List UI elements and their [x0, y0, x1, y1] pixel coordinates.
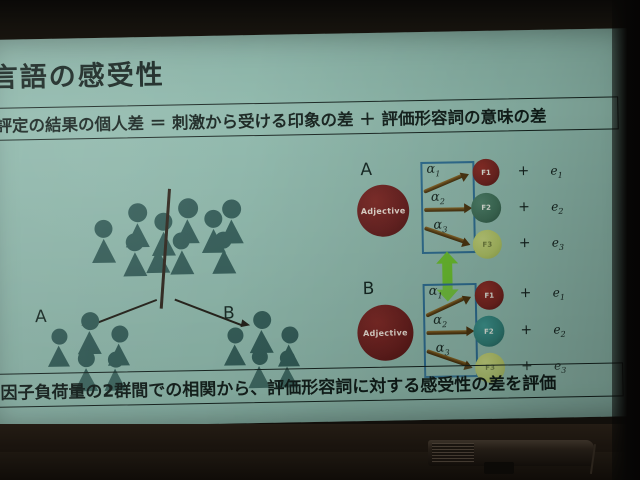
loading-label-b-3: α3: [436, 341, 450, 358]
loading-label-b-1: α1: [429, 284, 443, 301]
person-head: [253, 311, 271, 329]
model-group-label-a: A: [360, 160, 372, 180]
loading-arrow-b-2: [426, 330, 470, 335]
error-label-a-1: e1: [550, 163, 563, 180]
error-sub: 1: [560, 293, 565, 302]
statement-box-top: 評定の結果の個人差 ＝ 刺激から受ける印象の差 ＋ 評価形容詞の意味の差: [0, 96, 619, 141]
factor-node-b-1: F1: [474, 281, 504, 311]
loading-sub: 2: [442, 320, 447, 329]
projector-lens: [484, 462, 514, 474]
factor-node-a-3: F3: [473, 230, 503, 260]
person-head: [81, 312, 99, 330]
loading-symbol: α: [429, 284, 438, 299]
subgroup-label-b: B: [223, 303, 235, 323]
projected-slide: 言語の感受性 評定の結果の個人差 ＝ 刺激から受ける印象の差 ＋ 評価形容詞の意…: [0, 28, 639, 428]
person-head: [281, 326, 298, 343]
loading-sub: 1: [435, 169, 440, 178]
error-label-b-1: e1: [553, 285, 566, 302]
loading-symbol: α: [433, 218, 442, 233]
factor-label: F1: [484, 291, 494, 299]
plus-sign-a-2: +: [518, 199, 530, 215]
person-head: [51, 329, 67, 345]
factor-label: F1: [481, 168, 491, 176]
factor-node-b-2: F2: [473, 316, 505, 348]
person-body: [123, 252, 147, 276]
error-label-a-3: e3: [552, 235, 565, 252]
person-head: [173, 232, 190, 249]
loading-sub: 3: [445, 348, 450, 357]
plus-sign-b-1: +: [520, 285, 532, 301]
factor-label: F3: [482, 240, 492, 248]
loading-symbol: α: [426, 162, 435, 177]
factor-label: F2: [484, 327, 494, 335]
split-arrow-right-head: [240, 319, 251, 329]
adjective-node-b: Adjective: [357, 304, 414, 361]
error-sub: 3: [559, 243, 564, 252]
plus-sign-a-3: +: [519, 235, 531, 251]
room-right-dark-area: [612, 0, 640, 480]
person-body: [170, 250, 194, 274]
plus-sign-a-1: +: [517, 163, 529, 179]
loading-label-a-2: α2: [431, 190, 445, 207]
loading-label-a-1: α1: [426, 162, 440, 179]
error-sub: 2: [558, 207, 563, 216]
adjective-node-label: Adjective: [361, 206, 406, 216]
person-head: [154, 213, 172, 231]
loading-arrow-a-2: [424, 207, 468, 212]
adjective-node-label: Adjective: [363, 328, 408, 338]
loading-symbol: α: [431, 190, 440, 205]
projector-vent-grille: [432, 443, 474, 463]
person-body: [146, 249, 170, 273]
person-body: [92, 239, 116, 263]
person-head: [78, 350, 95, 367]
person-head: [252, 349, 268, 365]
plus-sign-b-2: +: [520, 322, 532, 338]
loading-sub: 2: [440, 197, 445, 206]
loading-symbol: α: [436, 341, 445, 356]
subgroup-label-a: A: [35, 307, 47, 327]
photo-frame: 言語の感受性 評定の結果の個人差 ＝ 刺激から受ける印象の差 ＋ 評価形容詞の意…: [0, 0, 640, 480]
factor-node-a-2: F2: [471, 193, 502, 224]
model-group-label-b: B: [362, 279, 374, 299]
page-title: 言語の感受性: [0, 53, 165, 95]
adjective-node-a: Adjective: [357, 184, 410, 237]
person-head: [111, 325, 128, 342]
person-head: [222, 199, 241, 218]
error-label-a-2: e2: [551, 199, 564, 216]
person-head: [128, 203, 147, 222]
person-body: [48, 345, 70, 366]
loading-symbol: α: [433, 313, 442, 328]
loading-sub: 1: [437, 291, 442, 300]
person-body: [212, 249, 236, 273]
loading-label-a-3: α3: [433, 218, 447, 235]
loading-sub: 3: [442, 225, 447, 234]
loading-label-b-2: α2: [433, 313, 447, 330]
person-head: [94, 220, 112, 238]
person-body: [224, 344, 246, 365]
error-sub: 1: [558, 171, 563, 180]
person-head: [215, 231, 232, 248]
person-head: [126, 233, 144, 251]
statement-top-text: 評定の結果の個人差 ＝ 刺激から受ける印象の差 ＋ 評価形容詞の意味の差: [0, 102, 547, 136]
statement-bottom-text: 因子負荷量の2群間での相関から、評価形容詞に対する感受性の差を評価: [0, 368, 556, 403]
person-head: [227, 327, 243, 343]
factor-label: F2: [481, 204, 491, 212]
factor-node-a-1: F1: [472, 159, 499, 186]
error-sub: 2: [561, 330, 566, 339]
error-label-b-2: e2: [553, 322, 566, 339]
person-head: [178, 198, 198, 218]
